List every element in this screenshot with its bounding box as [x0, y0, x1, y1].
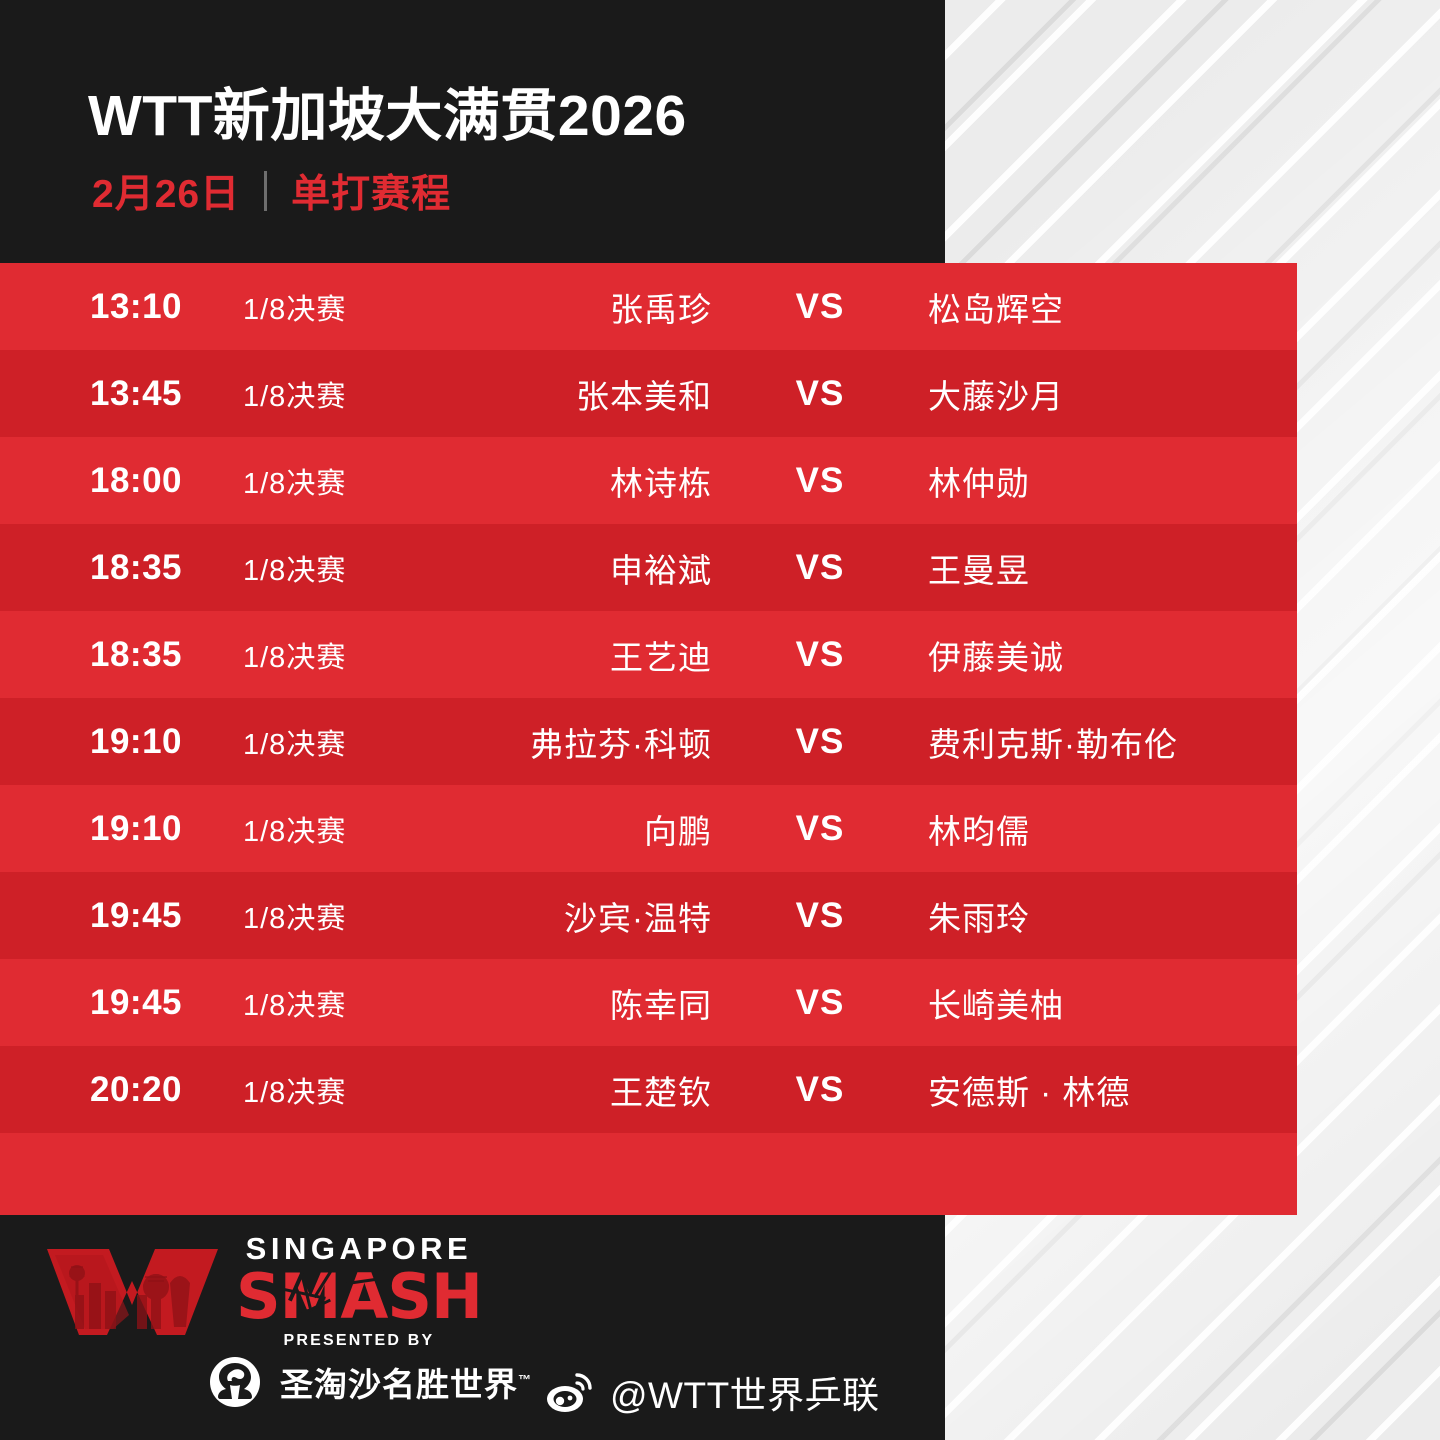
- player-one: 林诗栋: [400, 457, 712, 505]
- weibo-icon: [546, 1371, 596, 1413]
- header-panel: WTT新加坡大满贯2026 2月26日 单打赛程: [0, 0, 945, 263]
- player-one: 张本美和: [400, 370, 712, 418]
- player-two: 安德斯 · 林德: [928, 1066, 1288, 1114]
- player-two: 大藤沙月: [928, 370, 1288, 418]
- table-row[interactable]: 18:00 1/8决赛 林诗栋 VS 林仲勋: [0, 437, 1297, 524]
- table-row[interactable]: 19:45 1/8决赛 沙宾·温特 VS 朱雨玲: [0, 872, 1297, 959]
- player-two: 费利克斯·勒布伦: [928, 718, 1288, 766]
- match-time: 13:10: [90, 287, 182, 327]
- match-round: 1/8决赛: [243, 808, 346, 850]
- vs-label: VS: [762, 896, 878, 936]
- player-one: 陈幸同: [400, 979, 712, 1027]
- weibo-handle-label: @WTT世界乒联: [610, 1365, 880, 1419]
- smash-wordmark-wrap: SMASH: [236, 1266, 482, 1328]
- match-time: 18:35: [90, 635, 182, 675]
- vs-label: VS: [762, 1070, 878, 1110]
- match-round: 1/8决赛: [243, 1069, 346, 1111]
- player-two: 松岛辉空: [928, 283, 1288, 331]
- match-time: 19:45: [90, 983, 182, 1023]
- match-time: 18:00: [90, 461, 182, 501]
- schedule-bottom-spacer: [0, 1133, 1297, 1218]
- table-row[interactable]: 18:35 1/8决赛 王艺迪 VS 伊藤美诚: [0, 611, 1297, 698]
- table-row[interactable]: 19:10 1/8决赛 向鹏 VS 林昀儒: [0, 785, 1297, 872]
- event-name-label: SMASH: [236, 1266, 482, 1328]
- vs-label: VS: [762, 722, 878, 762]
- smash-wordmark-block: SINGAPORE SMASH PRESENTED BY: [236, 1233, 482, 1350]
- vs-label: VS: [762, 287, 878, 327]
- header-date: 2月26日: [92, 163, 240, 219]
- match-round: 1/8决赛: [243, 634, 346, 676]
- player-one: 张禹珍: [400, 283, 712, 331]
- table-row[interactable]: 20:20 1/8决赛 王楚钦 VS 安德斯 · 林德: [0, 1046, 1297, 1133]
- match-time: 20:20: [90, 1070, 182, 1110]
- sponsor-name-text: 圣淘沙名胜世界: [280, 1366, 518, 1403]
- vs-label: VS: [762, 548, 878, 588]
- player-one: 弗拉芬·科顿: [400, 718, 712, 766]
- presented-by-label: PRESENTED BY: [284, 1332, 435, 1350]
- header-subline: 2月26日 单打赛程: [92, 163, 451, 219]
- match-round: 1/8决赛: [243, 721, 346, 763]
- table-row[interactable]: 13:45 1/8决赛 张本美和 VS 大藤沙月: [0, 350, 1297, 437]
- sponsor-lockup: 圣淘沙名胜世界™: [208, 1355, 532, 1409]
- singapore-smash-logo: SINGAPORE SMASH PRESENTED BY: [45, 1233, 482, 1350]
- match-time: 19:10: [90, 809, 182, 849]
- player-two: 林昀儒: [928, 805, 1288, 853]
- match-time: 13:45: [90, 374, 182, 414]
- vs-label: VS: [762, 461, 878, 501]
- match-round: 1/8决赛: [243, 286, 346, 328]
- match-time: 18:35: [90, 548, 182, 588]
- player-one: 沙宾·温特: [400, 892, 712, 940]
- match-round: 1/8决赛: [243, 895, 346, 937]
- sponsor-name-label: 圣淘沙名胜世界™: [280, 1358, 532, 1406]
- header-section-label: 单打赛程: [291, 163, 451, 219]
- table-row[interactable]: 13:10 1/8决赛 张禹珍 VS 松岛辉空: [0, 263, 1297, 350]
- match-round: 1/8决赛: [243, 982, 346, 1024]
- singapore-skyline-w-icon: [45, 1243, 220, 1348]
- player-one: 向鹏: [400, 805, 712, 853]
- match-time: 19:45: [90, 896, 182, 936]
- player-two: 伊藤美诚: [928, 631, 1288, 679]
- player-one: 王艺迪: [400, 631, 712, 679]
- player-two: 朱雨玲: [928, 892, 1288, 940]
- player-one: 申裕斌: [400, 544, 712, 592]
- match-round: 1/8决赛: [243, 547, 346, 589]
- vs-label: VS: [762, 809, 878, 849]
- weibo-credit[interactable]: @WTT世界乒联: [546, 1365, 880, 1419]
- schedule-table: 13:10 1/8决赛 张禹珍 VS 松岛辉空 13:45 1/8决赛 张本美和…: [0, 263, 1297, 1215]
- player-two: 长崎美柚: [928, 979, 1288, 1027]
- match-round: 1/8决赛: [243, 373, 346, 415]
- table-row[interactable]: 19:10 1/8决赛 弗拉芬·科顿 VS 费利克斯·勒布伦: [0, 698, 1297, 785]
- resorts-world-globe-icon: [208, 1355, 262, 1409]
- page-title: WTT新加坡大满贯2026: [88, 70, 687, 152]
- poster-canvas: WTT新加坡大满贯2026 2月26日 单打赛程 13:10 1/8决赛 张禹珍…: [0, 0, 1440, 1440]
- match-time: 19:10: [90, 722, 182, 762]
- vs-label: VS: [762, 374, 878, 414]
- match-round: 1/8决赛: [243, 460, 346, 502]
- player-two: 王曼昱: [928, 544, 1288, 592]
- header-divider: [264, 171, 267, 211]
- player-one: 王楚钦: [400, 1066, 712, 1114]
- vs-label: VS: [762, 983, 878, 1023]
- trademark-symbol: ™: [518, 1372, 532, 1387]
- player-two: 林仲勋: [928, 457, 1288, 505]
- vs-label: VS: [762, 635, 878, 675]
- table-row[interactable]: 19:45 1/8决赛 陈幸同 VS 长崎美柚: [0, 959, 1297, 1046]
- table-row[interactable]: 18:35 1/8决赛 申裕斌 VS 王曼昱: [0, 524, 1297, 611]
